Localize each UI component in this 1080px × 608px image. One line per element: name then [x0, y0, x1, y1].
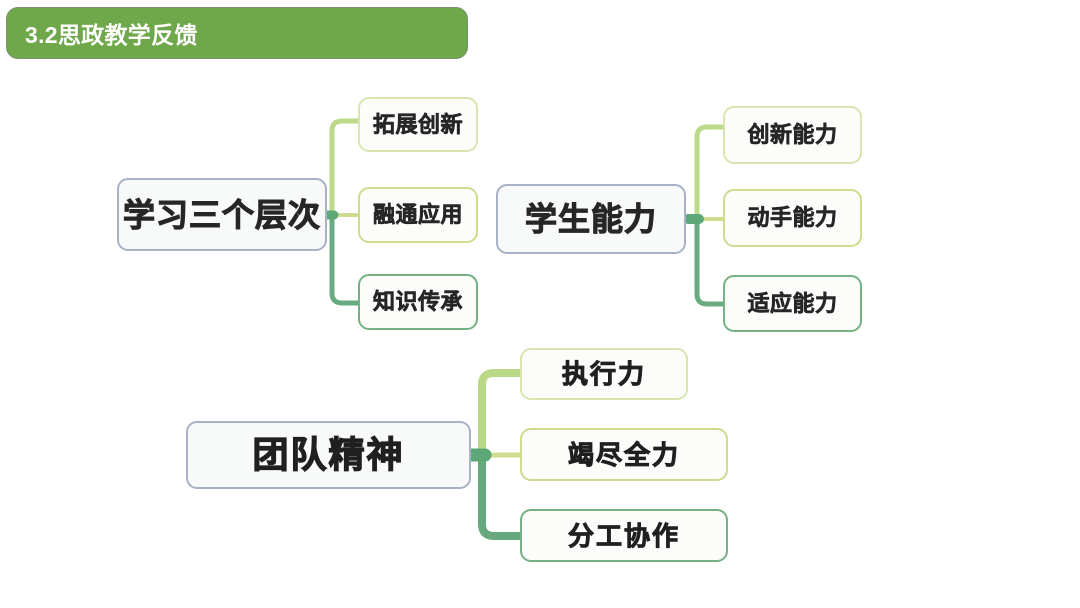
node-label: 动手能力	[747, 207, 837, 229]
node-label: 拓展创新	[373, 114, 463, 136]
node-leaf-practical-ability[interactable]: 动手能力	[723, 189, 862, 247]
connector-learning-top	[332, 121, 358, 215]
connector-ability-bottom	[697, 219, 723, 304]
slide-canvas: 3.2思政教学反馈 学习三个层次 拓展创新 融通应用 知识传承	[0, 0, 1080, 608]
page-title: 3.2思政教学反馈	[25, 16, 198, 50]
node-label: 学生能力	[525, 203, 657, 235]
connector-team-top	[482, 373, 520, 455]
connector-team-bottom	[482, 455, 520, 536]
node-root-learning-levels[interactable]: 学习三个层次	[117, 178, 327, 251]
node-root-student-ability[interactable]: 学生能力	[496, 184, 686, 254]
node-leaf-adaptability[interactable]: 适应能力	[723, 275, 862, 332]
section-title-banner: 3.2思政教学反馈	[6, 7, 468, 59]
node-label: 知识传承	[373, 291, 463, 313]
node-leaf-full-effort[interactable]: 竭尽全力	[520, 428, 728, 481]
node-label: 团队精神	[252, 437, 404, 473]
node-leaf-execution[interactable]: 执行力	[520, 348, 688, 400]
connector-ability-top	[697, 127, 723, 219]
node-leaf-knowledge-inheritance[interactable]: 知识传承	[358, 274, 478, 330]
node-leaf-innovation-ability[interactable]: 创新能力	[723, 106, 862, 164]
node-label: 融通应用	[373, 204, 463, 226]
node-label: 适应能力	[747, 293, 837, 315]
connector-learning-bottom	[332, 215, 358, 303]
node-label: 竭尽全力	[568, 442, 680, 468]
node-label: 分工协作	[568, 523, 680, 549]
node-leaf-integrated-application[interactable]: 融通应用	[358, 187, 478, 243]
node-leaf-division-cooperation[interactable]: 分工协作	[520, 509, 728, 562]
node-label: 学习三个层次	[123, 199, 321, 231]
node-label: 执行力	[562, 361, 646, 387]
node-root-team-spirit[interactable]: 团队精神	[186, 421, 471, 489]
node-leaf-expand-innovation[interactable]: 拓展创新	[358, 97, 478, 152]
node-label: 创新能力	[747, 124, 837, 146]
